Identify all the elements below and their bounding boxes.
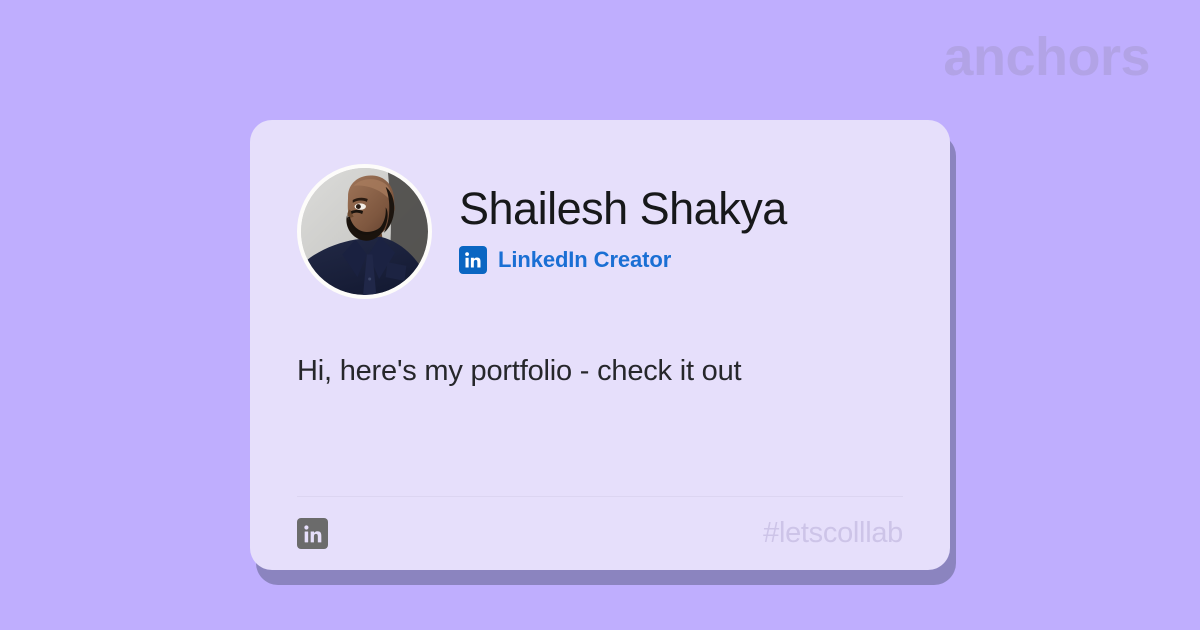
avatar-photo [301, 168, 428, 295]
profile-role-row: LinkedIn Creator [459, 246, 787, 274]
profile-header: Shailesh Shakya LinkedIn Creator [297, 164, 903, 299]
profile-role-label: LinkedIn Creator [498, 247, 671, 273]
profile-card: Shailesh Shakya LinkedIn Creator Hi, her… [250, 120, 950, 570]
linkedin-icon[interactable] [459, 246, 487, 274]
card-footer: #letscolllab [297, 497, 903, 570]
profile-meta: Shailesh Shakya LinkedIn Creator [459, 185, 787, 278]
anchors-watermark: anchors [943, 30, 1150, 84]
linkedin-icon[interactable] [297, 518, 328, 549]
footer-hashtag: #letscolllab [763, 517, 903, 550]
card-message: Hi, here's my portfolio - check it out [297, 352, 903, 391]
profile-name: Shailesh Shakya [459, 185, 787, 232]
footer-spacer [297, 391, 903, 496]
avatar [297, 164, 432, 299]
